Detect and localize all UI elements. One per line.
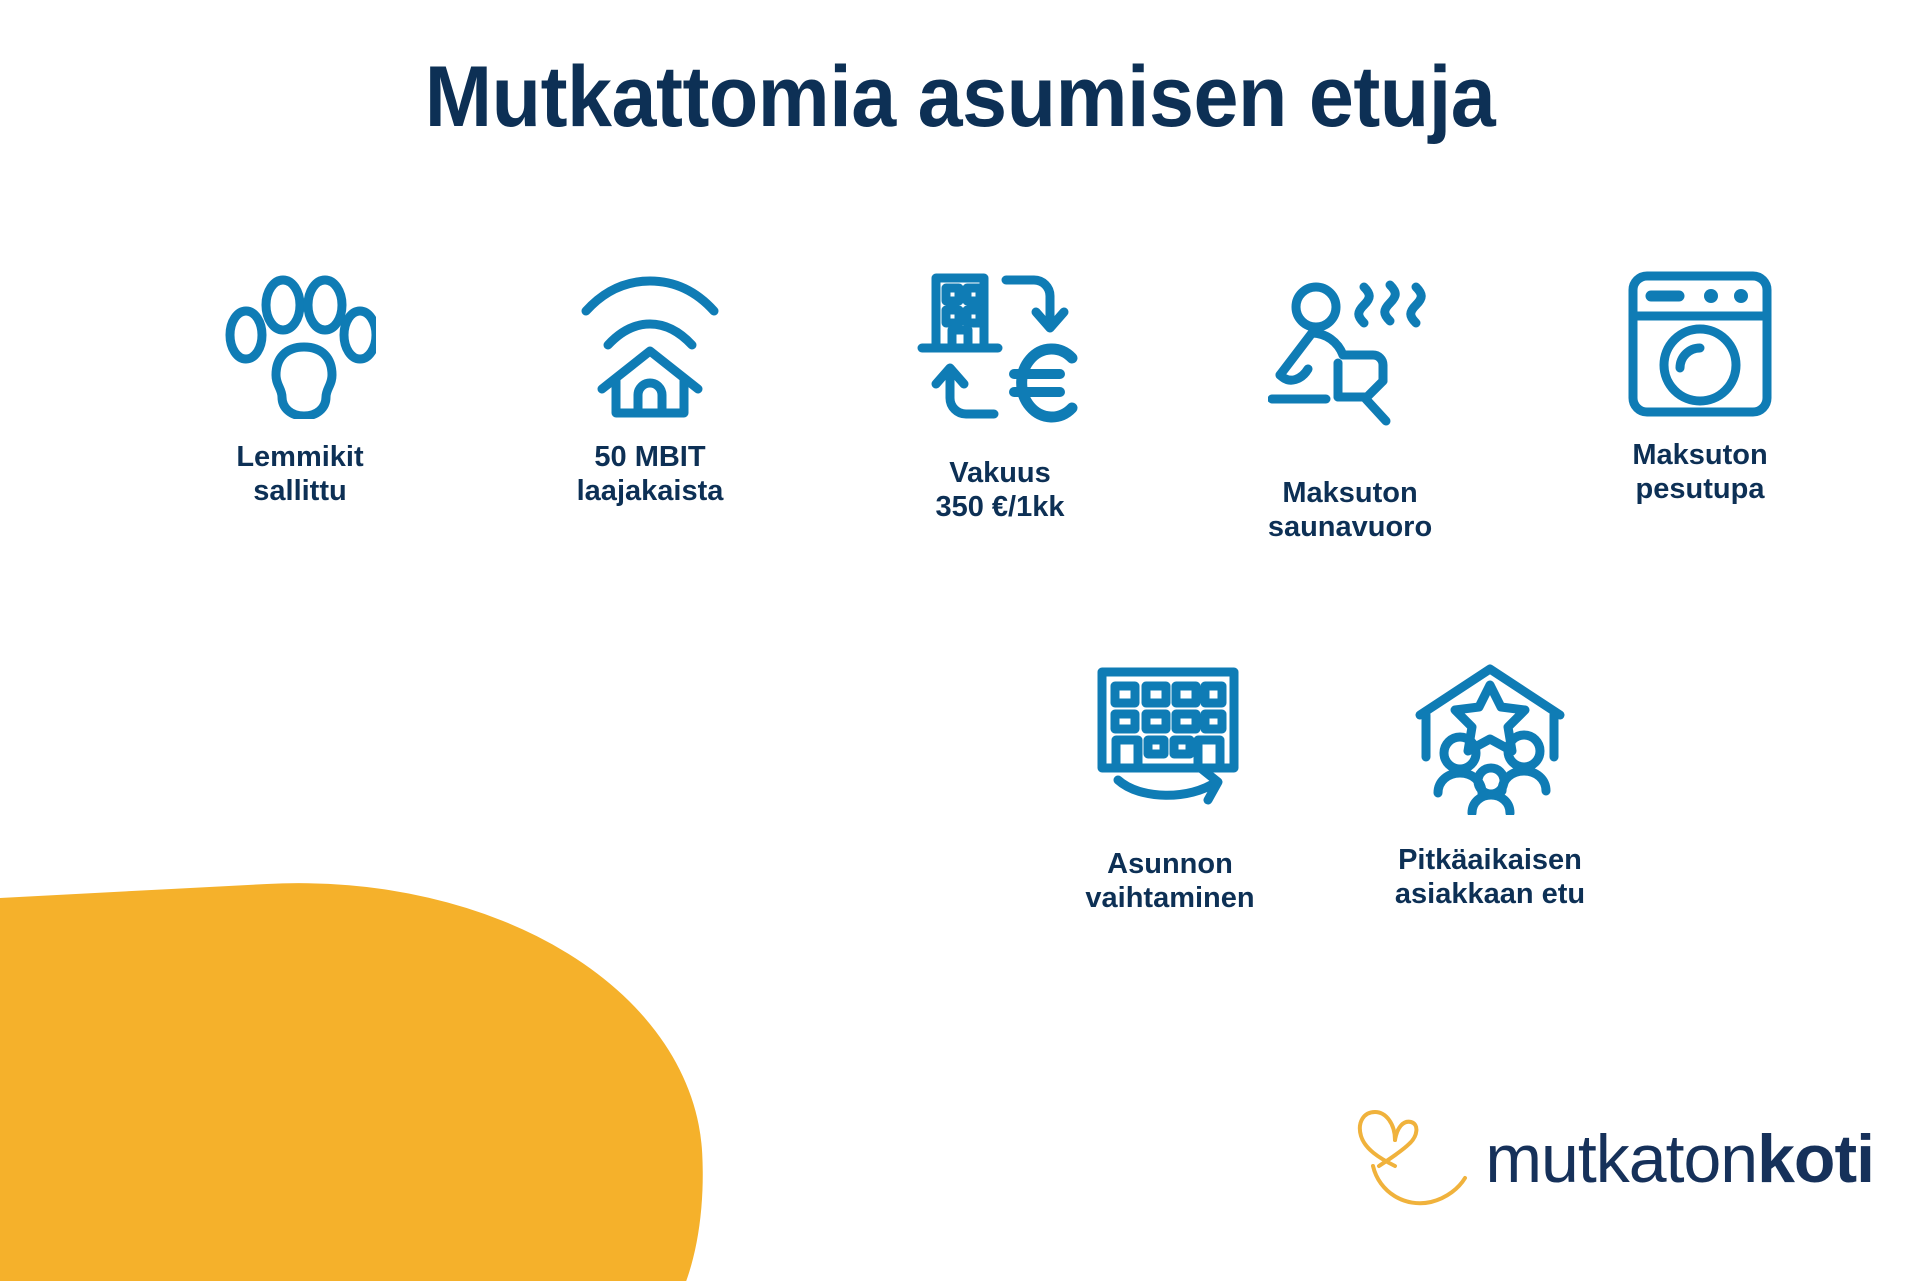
yellow-decorative-blob xyxy=(0,862,712,1281)
benefit-label: Pitkäaikaisen asiakkaan etu xyxy=(1395,844,1585,912)
apartment-swap-arrow-icon xyxy=(1090,650,1250,828)
benefit-deposit: Vakuus 350 €/1kk xyxy=(850,255,1150,525)
benefit-label: Asunnon vaihtaminen xyxy=(1085,848,1254,916)
benefit-pets-allowed: Lemmikit sallittu xyxy=(150,255,450,509)
benefit-loyalty: Pitkäaikaisen asiakkaan etu xyxy=(1340,650,1640,912)
logo-text-bold: koti xyxy=(1757,1121,1874,1197)
sauna-person-steam-icon xyxy=(1268,255,1432,451)
benefit-sauna: Maksuton saunavuoro xyxy=(1200,255,1500,545)
house-star-family-icon xyxy=(1408,650,1572,828)
heart-swoosh-icon xyxy=(1351,1096,1471,1221)
benefit-apartment-swap: Asunnon vaihtaminen xyxy=(1020,650,1320,916)
benefits-row-1: Lemmikit sallittu 50 MBIT laajakaista xyxy=(150,255,1850,545)
benefit-label: 50 MBIT laajakaista xyxy=(577,441,724,509)
benefit-label: Vakuus 350 €/1kk xyxy=(935,457,1064,525)
logo-text-light: mutkaton xyxy=(1485,1121,1757,1197)
logo-wordmark: mutkatonkoti xyxy=(1485,1125,1874,1193)
poster-canvas: Mutkattomia asumisen etuja Lemmikit sall… xyxy=(0,0,1920,1281)
page-title: Mutkattomia asumisen etuja xyxy=(58,48,1863,147)
building-euro-exchange-icon xyxy=(912,255,1088,445)
wifi-house-icon xyxy=(574,255,726,431)
benefit-laundry: Maksuton pesutupa xyxy=(1550,255,1850,507)
benefit-broadband: 50 MBIT laajakaista xyxy=(500,255,800,509)
benefits-row-2: Asunnon vaihtaminen xyxy=(1020,650,1640,916)
washing-machine-icon xyxy=(1625,255,1775,433)
paw-print-icon xyxy=(224,255,376,431)
benefit-label: Lemmikit sallittu xyxy=(236,441,363,509)
benefit-label: Maksuton pesutupa xyxy=(1632,439,1767,507)
benefit-label: Maksuton saunavuoro xyxy=(1200,477,1500,545)
brand-logo[interactable]: mutkatonkoti xyxy=(1351,1096,1874,1221)
